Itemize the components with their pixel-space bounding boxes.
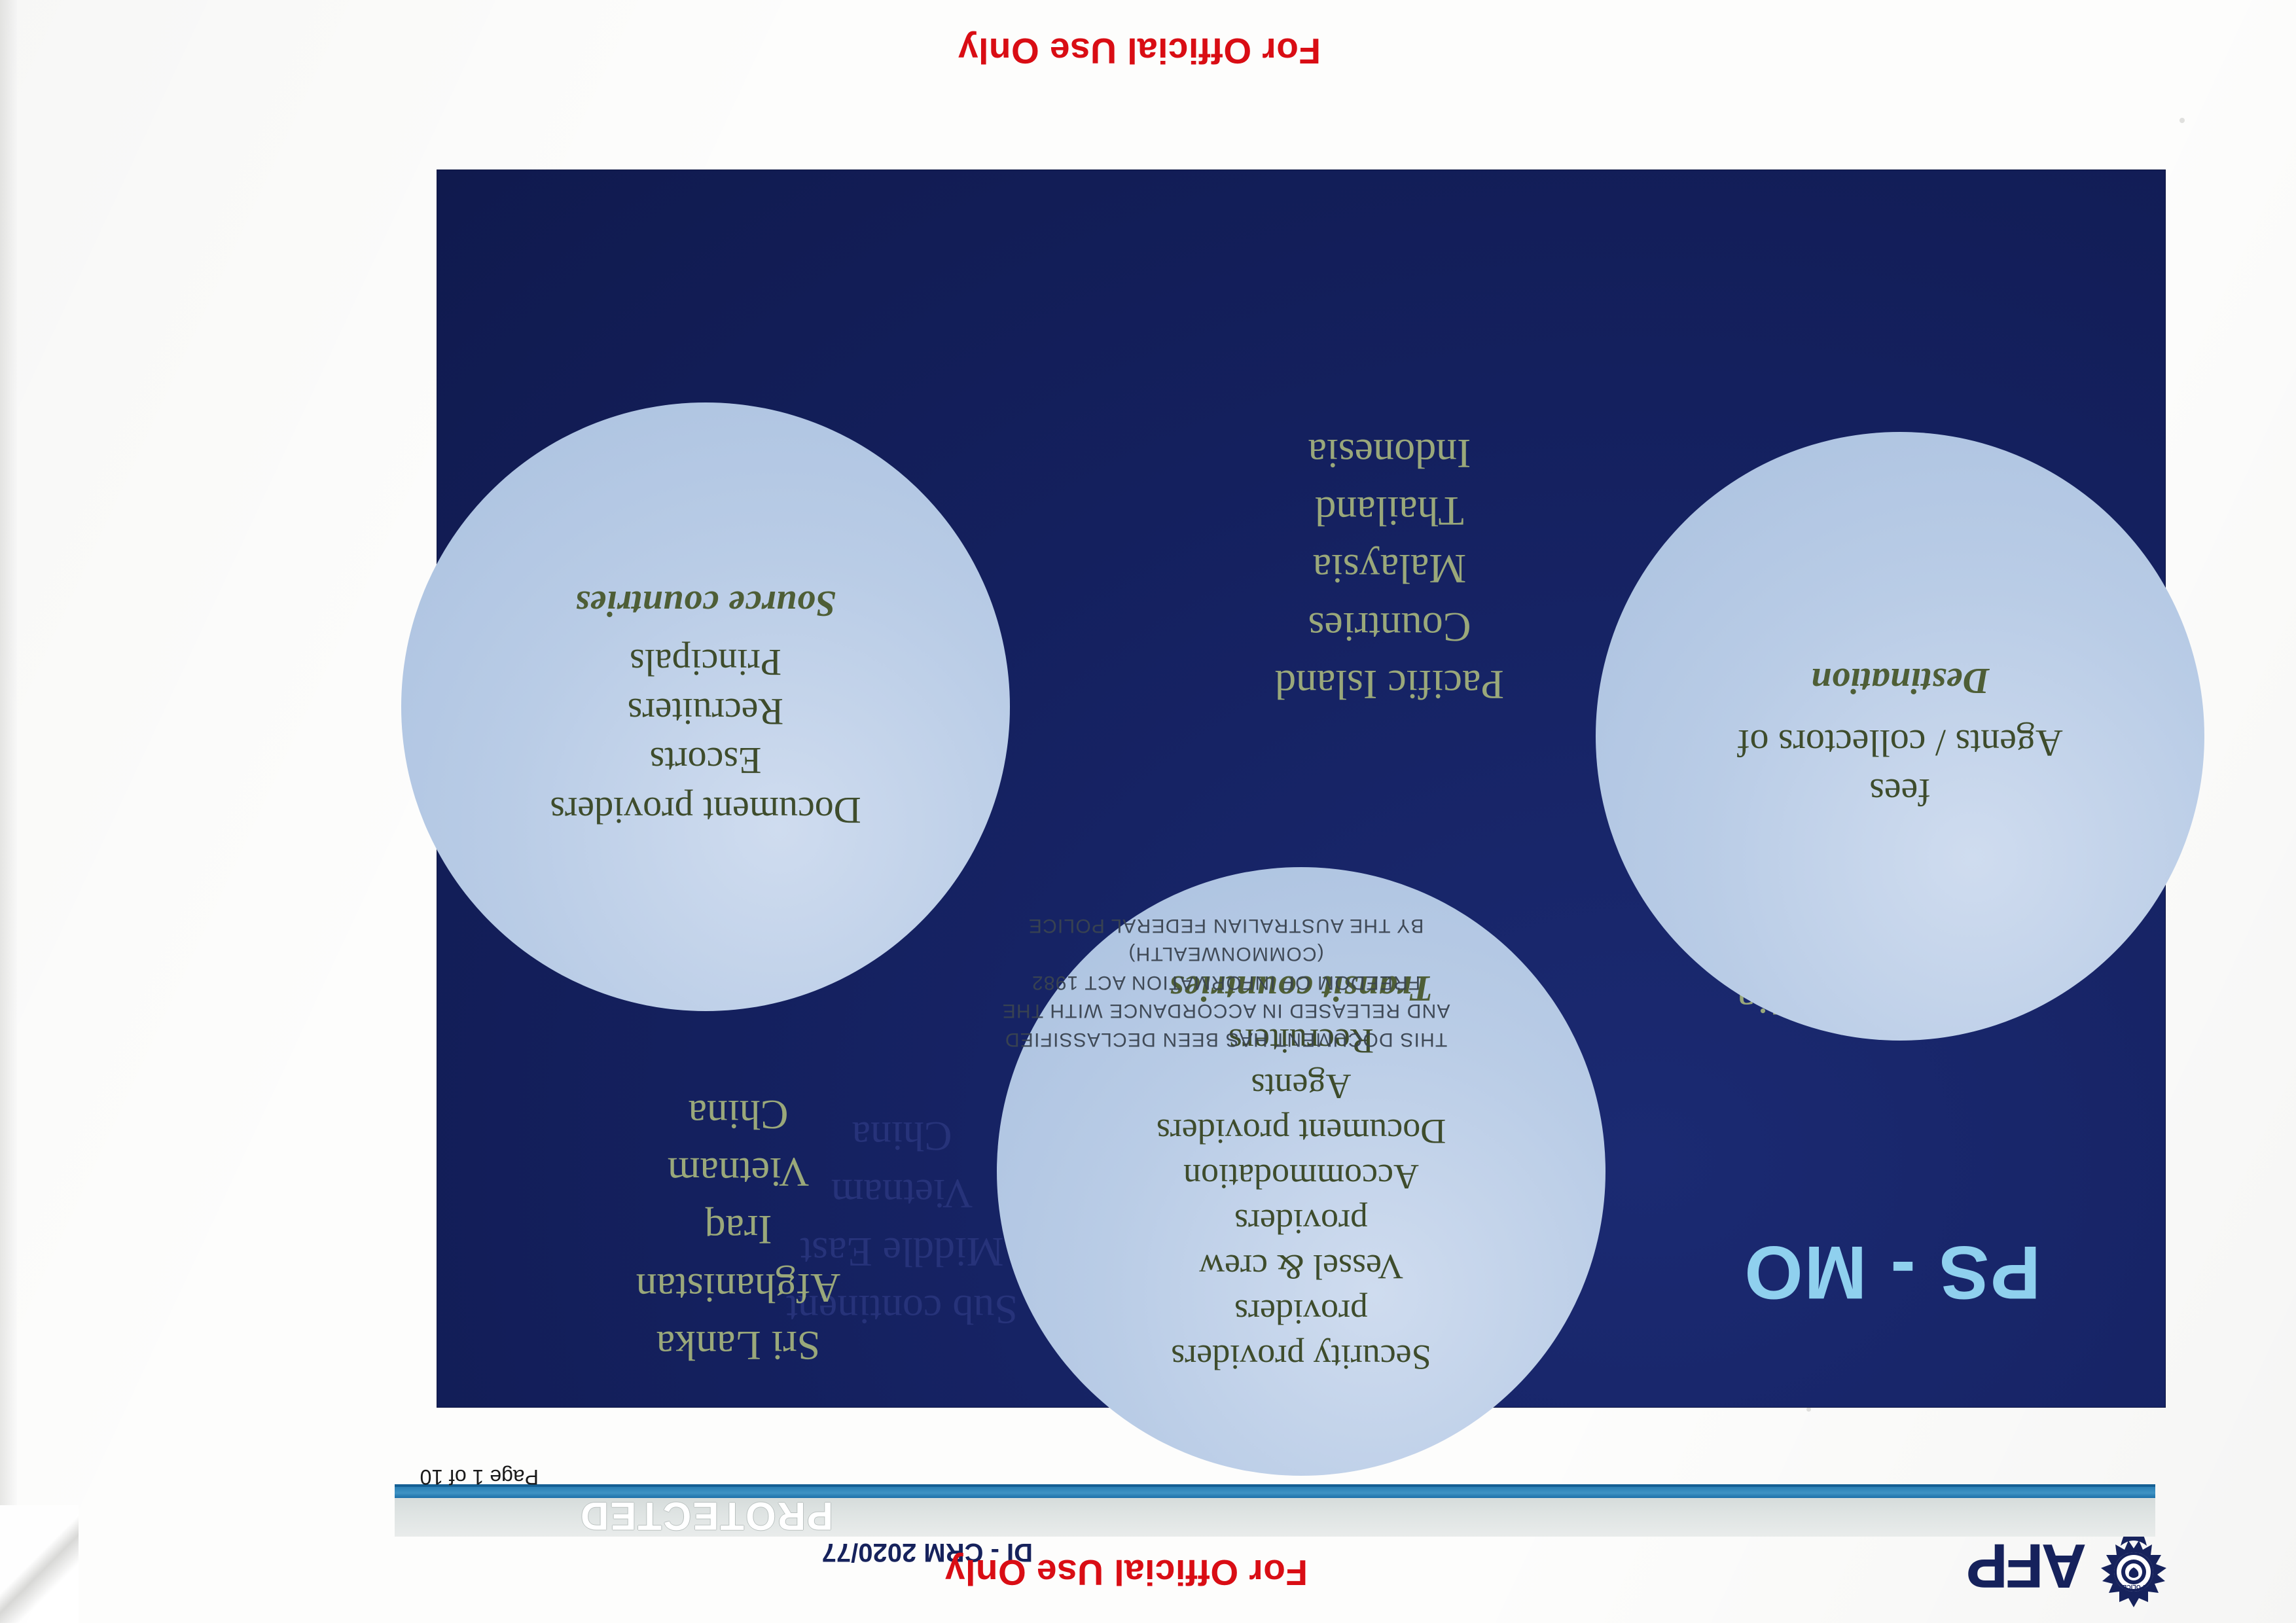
afp-letters: AFP <box>1865 1534 2087 1597</box>
circle-item: fees <box>1869 768 1930 817</box>
declass-line: BY THE AUSTRALIAN FEDERAL POLICE <box>990 912 1462 940</box>
country-item: Pacific Island <box>1095 656 1684 713</box>
circle-item: providers <box>1234 1289 1368 1334</box>
page-number: Page 1 of 10 <box>420 1465 539 1489</box>
presentation-slide: PS - MO Australia Australia Sub continen… <box>437 170 2165 1407</box>
slide-title: PS - MO <box>1743 1229 2041 1315</box>
rotated-page-content: POLICE AFP AUSTRALIAN FEDERAL POLICE PRO… <box>0 0 2296 1623</box>
transit-country-list: Pacific Island Countries Malaysia Thaila… <box>1095 424 1684 713</box>
country-item: Malaysia <box>1095 540 1684 597</box>
circle-item: Accommodation <box>1183 1154 1419 1199</box>
country-item: Thailand <box>1095 482 1684 540</box>
circle-item: Principals <box>630 637 781 687</box>
circle-item: Agents <box>1251 1063 1352 1109</box>
declass-line: THIS DOCUMENT HAS BEEN DECLASSIFIED <box>990 1026 1462 1054</box>
country-item: China <box>411 1085 1066 1143</box>
country-item: Countries <box>1095 597 1684 655</box>
circle-title-destination: Destination <box>1810 660 1989 702</box>
country-item: Vietnam <box>411 1143 1066 1201</box>
official-use-stamp-top: For Official Use Only <box>958 30 1321 72</box>
source-country-list: Sri Lanka Afghanistan Iraq Vietnam China <box>411 1085 1066 1374</box>
circle-item: Security providers <box>1171 1334 1431 1380</box>
declass-line: AND RELEASED IN ACCORDANCE WITH THE <box>990 997 1462 1026</box>
circle-item: Escorts <box>650 736 762 785</box>
classification-band-rule-dark <box>395 1484 2155 1487</box>
country-item: Iraq <box>411 1201 1066 1258</box>
circle-item: Agents / collectors of <box>1737 719 2063 768</box>
circle-item: providers <box>1234 1199 1368 1244</box>
country-item: Sri Lanka <box>411 1317 1066 1374</box>
circle-item: Recruiters <box>628 687 783 736</box>
circle-destination: fees Agents / collectors of Destination <box>1596 432 2204 1041</box>
circle-item: Document providers <box>550 785 861 834</box>
circle-source-countries: Document providers Escorts Recruiters Pr… <box>401 402 1010 1011</box>
declassification-stamp: THIS DOCUMENT HAS BEEN DECLASSIFIED AND … <box>990 912 1462 1054</box>
declass-line: FREEDOM OF INFORMATION ACT 1982 <box>990 969 1462 997</box>
circle-item: Vessel & crew <box>1199 1244 1403 1289</box>
classification-label: PROTECTED <box>579 1493 833 1539</box>
declass-line: (COMMONWEALTH) <box>990 940 1462 969</box>
country-item: Afghanistan <box>411 1258 1066 1316</box>
circle-title-source: Source countries <box>575 582 836 624</box>
official-use-stamp-bottom: For Official Use Only <box>944 1552 1308 1594</box>
svg-text:POLICE: POLICE <box>2123 1584 2145 1590</box>
circle-item: Document providers <box>1157 1109 1446 1154</box>
country-item: Indonesia <box>1095 424 1684 482</box>
letterhead: POLICE AFP AUSTRALIAN FEDERAL POLICE PRO… <box>0 1459 2296 1623</box>
